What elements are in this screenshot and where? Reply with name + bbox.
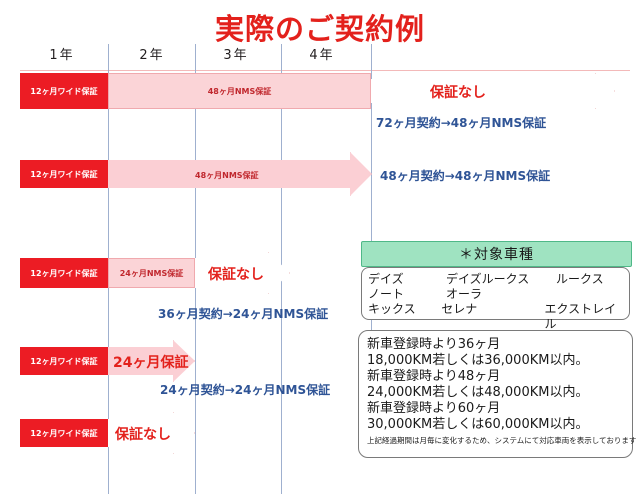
row-48m-wide-warranty-block: 12ヶ月ワイド保証 bbox=[20, 160, 108, 188]
model-name: エクストレイル bbox=[544, 302, 623, 332]
row-12m-wide-warranty-label: 12ヶ月ワイド保証 bbox=[30, 428, 97, 439]
model-row: ノート オーラ bbox=[368, 287, 623, 302]
target-models-header-label: ＊対象車種 bbox=[459, 244, 534, 264]
year-label-4: 4年 bbox=[292, 44, 352, 63]
model-name: ルークス bbox=[556, 272, 604, 287]
model-name: デイズ bbox=[368, 272, 446, 287]
diagram-canvas: 実際のご契約例 1年 2年 3年 4年 12ヶ月ワイド保証 48ヶ月NMS保証 … bbox=[0, 0, 640, 480]
row-48m-nms-warranty-label: 48ヶ月NMS保証 bbox=[195, 170, 259, 181]
condition-line: 24,000KM若しくは48,000KM以内。 bbox=[367, 385, 624, 401]
condition-line: 新車登録時より36ヶ月 bbox=[367, 337, 624, 353]
model-name: デイズルークス bbox=[446, 272, 556, 287]
conditions-box: 新車登録時より36ヶ月 18,000KM若しくは36,000KM以内。 新車登録… bbox=[358, 330, 633, 458]
condition-line: 30,000KM若しくは60,000KM以内。 bbox=[367, 417, 624, 433]
row-24m-wide-warranty-block: 12ヶ月ワイド保証 bbox=[20, 347, 108, 375]
model-name: キックス bbox=[368, 302, 441, 332]
model-name: ノート bbox=[368, 287, 446, 302]
row-72m-nms-warranty-label: 48ヶ月NMS保証 bbox=[208, 86, 272, 97]
row-24m-nms-warranty-label: 24ヶ月保証 bbox=[113, 352, 188, 372]
year-label-2: 2年 bbox=[122, 44, 182, 63]
row-24m-wide-warranty-label: 12ヶ月ワイド保証 bbox=[30, 356, 97, 367]
condition-line: 新車登録時より48ヶ月 bbox=[367, 369, 624, 385]
model-name: オーラ bbox=[446, 287, 556, 302]
row-36m-wide-warranty-block: 12ヶ月ワイド保証 bbox=[20, 258, 108, 288]
row-36m-no-warranty-label: 保証なし bbox=[208, 264, 264, 284]
model-row: デイズ デイズルークス ルークス bbox=[368, 272, 623, 287]
row-36m-wide-warranty-label: 12ヶ月ワイド保証 bbox=[30, 268, 97, 279]
row-36m-caption: 36ヶ月契約→24ヶ月NMS保証 bbox=[158, 305, 328, 322]
conditions-footnote: 上記経過期間は月毎に変化するため、システムにて対応車両を表示しております bbox=[367, 435, 624, 447]
model-name: セレナ bbox=[441, 302, 544, 332]
row-72m-nms-warranty-block: 48ヶ月NMS保証 bbox=[108, 73, 371, 109]
row-48m-wide-warranty-label: 12ヶ月ワイド保証 bbox=[30, 169, 97, 180]
condition-line: 18,000KM若しくは36,000KM以内。 bbox=[367, 353, 624, 369]
year-label-3: 3年 bbox=[206, 44, 266, 63]
page-title: 実際のご契約例 bbox=[0, 6, 640, 48]
row-72m-caption: 72ヶ月契約→48ヶ月NMS保証 bbox=[376, 114, 546, 131]
row-12m-no-warranty-label: 保証なし bbox=[115, 424, 171, 444]
row-36m-nms-warranty-label: 24ヶ月NMS保証 bbox=[120, 268, 184, 279]
row-48m-caption: 48ヶ月契約→48ヶ月NMS保証 bbox=[380, 167, 550, 184]
target-models-list: デイズ デイズルークス ルークス ノート オーラ キックス セレナ エクストレイ… bbox=[361, 267, 630, 320]
row-12m-wide-warranty-block: 12ヶ月ワイド保証 bbox=[20, 419, 108, 447]
model-row: キックス セレナ エクストレイル bbox=[368, 302, 623, 332]
row-72m-wide-warranty-label: 12ヶ月ワイド保証 bbox=[30, 86, 97, 97]
target-models-header: ＊対象車種 bbox=[361, 241, 632, 267]
timeline-axis bbox=[20, 70, 630, 71]
row-36m-nms-warranty-block: 24ヶ月NMS保証 bbox=[108, 258, 195, 288]
row-72m-no-warranty-label: 保証なし bbox=[430, 82, 486, 102]
row-72m-wide-warranty-block: 12ヶ月ワイド保証 bbox=[20, 73, 108, 109]
row-24m-caption: 24ヶ月契約→24ヶ月NMS保証 bbox=[160, 381, 330, 398]
condition-line: 新車登録時より60ヶ月 bbox=[367, 401, 624, 417]
year-label-1: 1年 bbox=[32, 44, 92, 63]
